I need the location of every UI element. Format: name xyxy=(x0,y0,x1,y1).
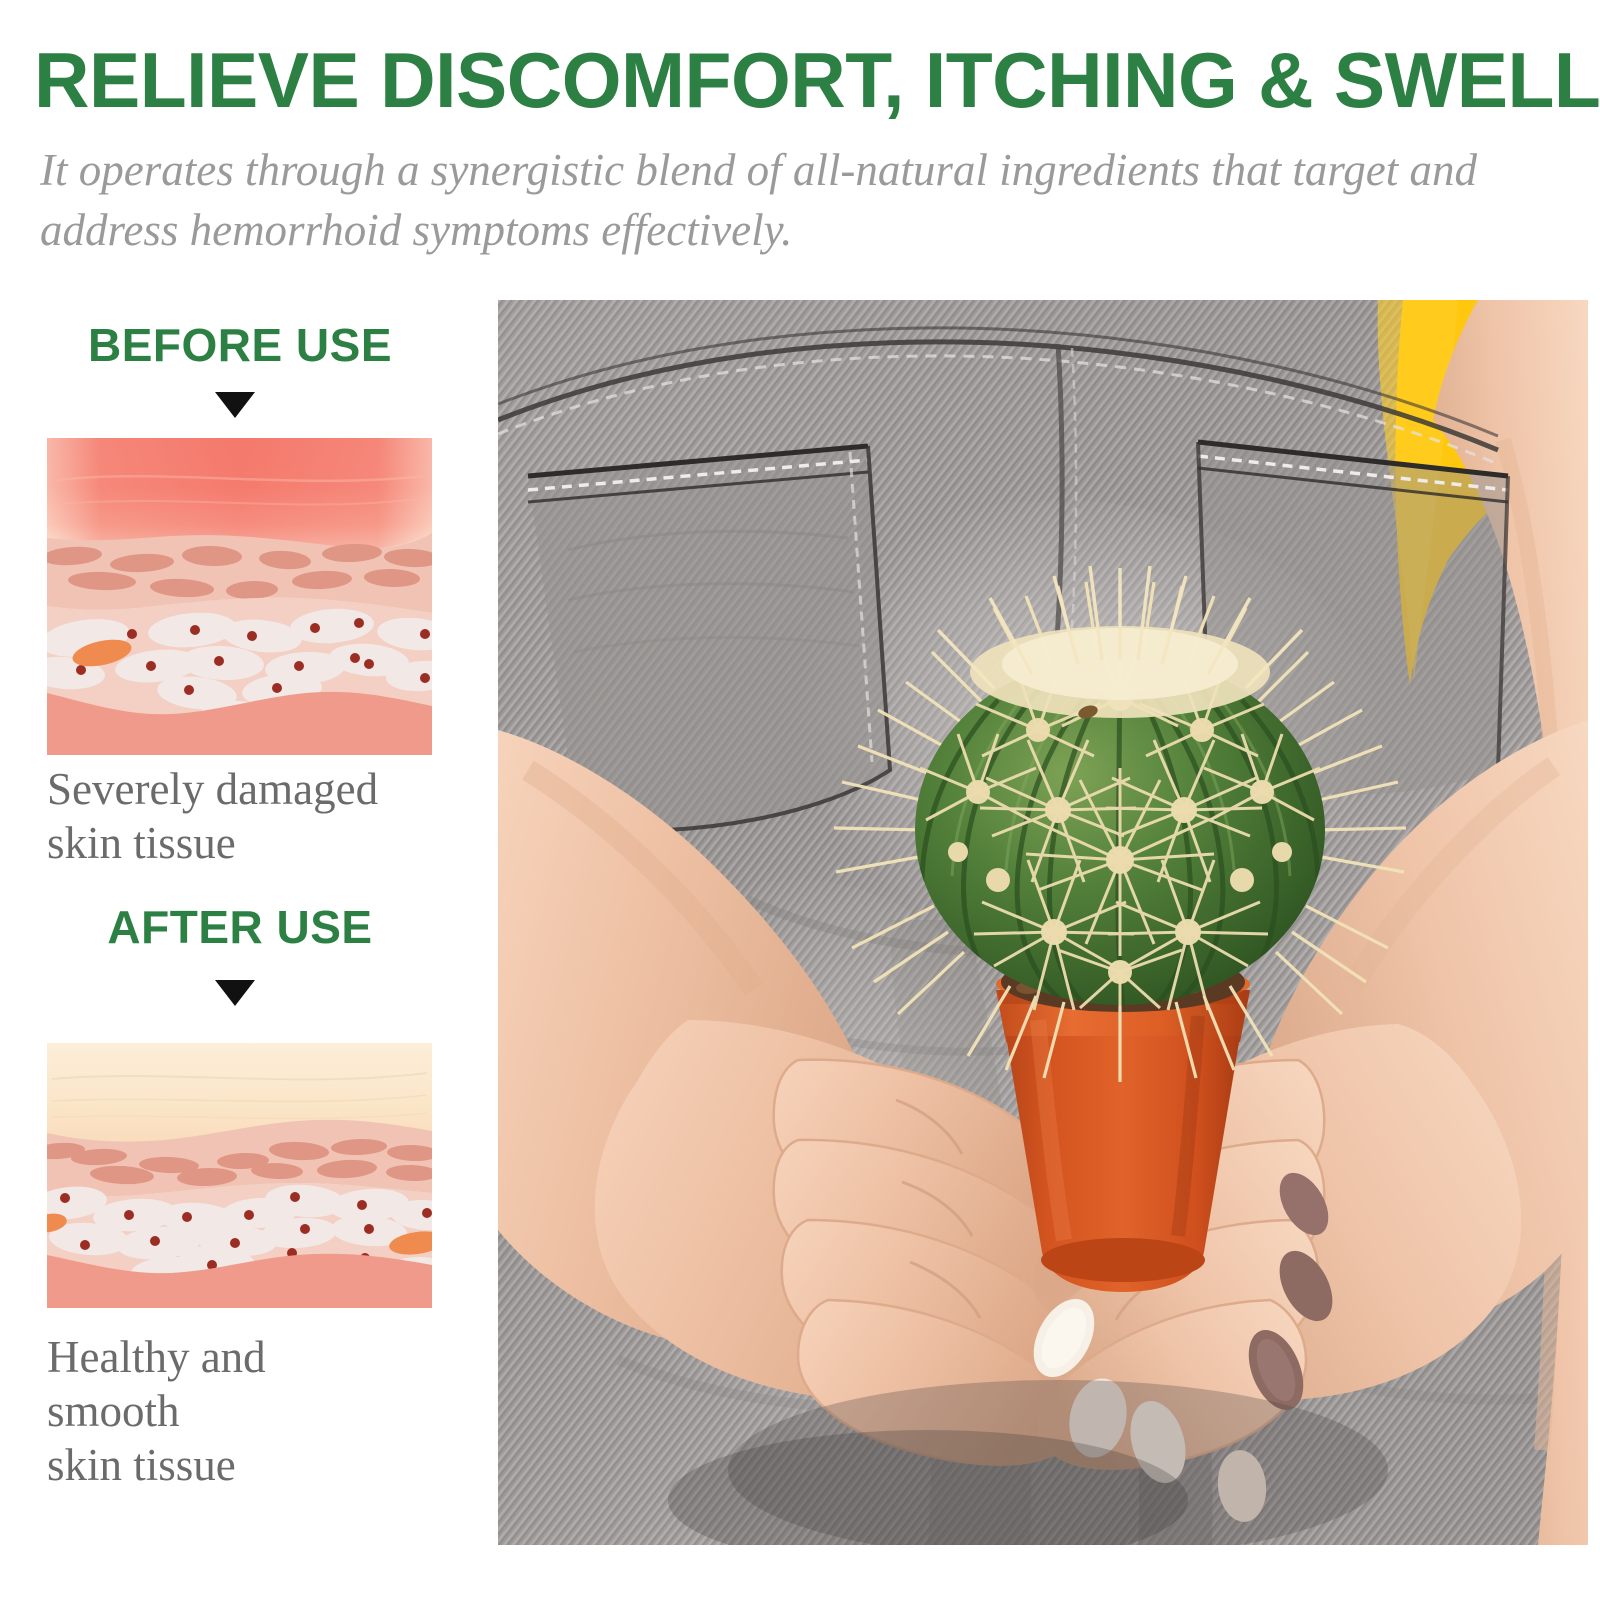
after-skin-diagram xyxy=(47,1043,432,1308)
before-use-caption: Severely damaged skin tissue xyxy=(47,762,447,870)
before-use-label: BEFORE USE xyxy=(30,318,450,372)
down-triangle-icon-before xyxy=(215,392,255,418)
page-subtitle: It operates through a synergistic blend … xyxy=(40,140,1540,260)
after-use-caption: Healthy and smooth skin tissue xyxy=(47,1330,447,1492)
page-title: RELIEVE DISCOMFORT, ITCHING & SWELLING xyxy=(34,38,1551,122)
after-use-label: AFTER USE xyxy=(30,900,450,954)
down-triangle-icon-after xyxy=(215,980,255,1006)
woman-holding-cactus-photo xyxy=(498,300,1588,1545)
before-skin-diagram xyxy=(47,438,432,755)
